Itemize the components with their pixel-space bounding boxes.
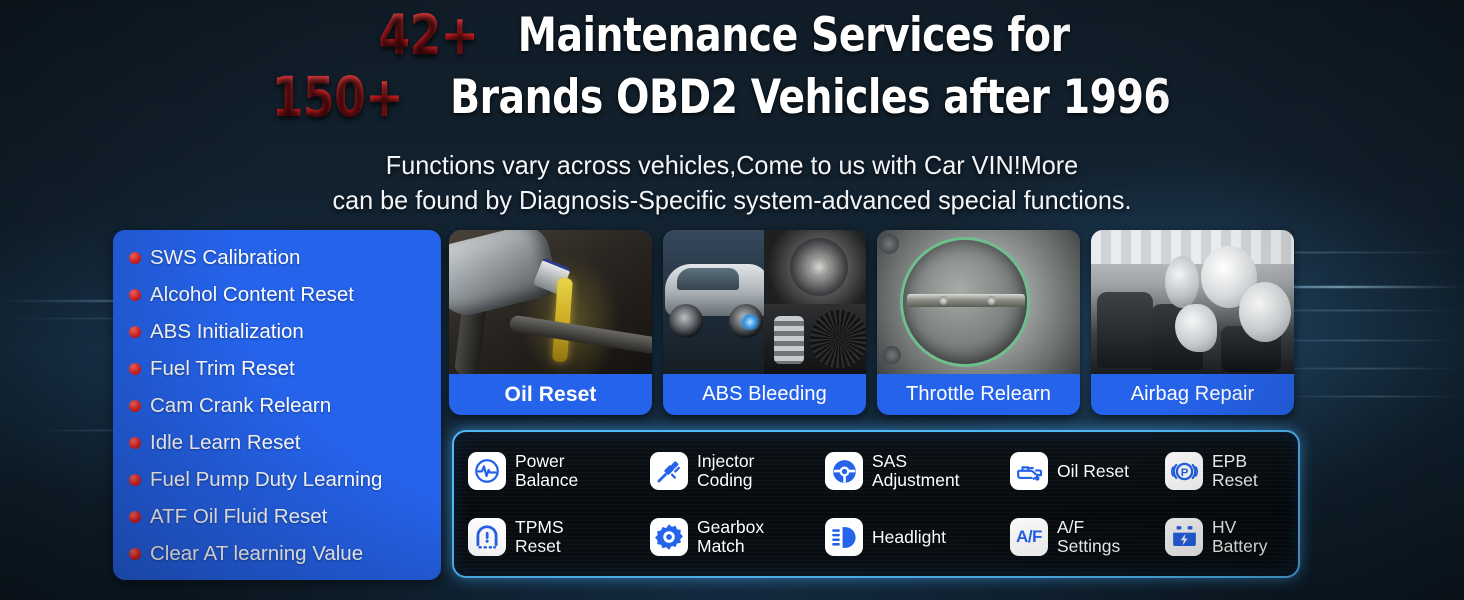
headline-line-2: 150+ Brands OBD2 Vehicles after 1996: [0, 70, 1464, 125]
function-label: TPMS Reset: [515, 518, 564, 555]
photo-card-label: ABS Bleeding: [663, 374, 866, 415]
tpms-icon: [468, 518, 506, 556]
function-item-power-balance[interactable]: Power Balance: [468, 452, 650, 490]
function-label: Injector Coding: [697, 452, 754, 489]
engine-oil-pouring-photo: [449, 230, 652, 374]
bullet-icon: [129, 363, 141, 375]
hv-battery-icon: [1165, 518, 1203, 556]
function-label: EPB Reset: [1212, 452, 1258, 489]
function-label: Gearbox Match: [697, 518, 764, 555]
function-item-oil-reset[interactable]: Oil Reset: [1010, 452, 1165, 490]
list-item: Idle Learn Reset: [113, 424, 441, 461]
photo-card-label: Throttle Relearn: [877, 374, 1080, 415]
injector-icon: [650, 452, 688, 490]
function-label: HV Battery: [1212, 518, 1267, 555]
af-glyph: A/F: [1016, 527, 1042, 547]
bullet-icon: [129, 326, 141, 338]
photo-card-row: Oil Reset ABS Bleeding Throttle Relearn: [449, 230, 1294, 415]
promo-banner: 42+ Maintenance Services for 150+ Brands…: [0, 0, 1464, 600]
headline-text-brands: Brands OBD2 Vehicles after 1996: [450, 74, 1170, 121]
bullet-icon: [129, 252, 141, 264]
photo-card-abs-bleeding: ABS Bleeding: [663, 230, 866, 415]
service-list-label: Cam Crank Relearn: [150, 394, 331, 418]
service-list-label: Idle Learn Reset: [150, 431, 300, 455]
bullet-icon: [129, 511, 141, 523]
headline-count-brands: 150+: [272, 70, 403, 125]
headline: 42+ Maintenance Services for 150+ Brands…: [0, 8, 1464, 125]
service-list-label: SWS Calibration: [150, 246, 300, 270]
car-interior-airbags-photo: [1091, 230, 1294, 374]
subtitle-line-2: can be found by Diagnosis-Specific syste…: [22, 183, 1442, 218]
function-item-af-settings[interactable]: A/F A/F Settings: [1010, 518, 1165, 556]
service-list-label: Clear AT learning Value: [150, 542, 363, 566]
function-icon-panel: Power Balance Injector Coding SAS Adjust…: [452, 430, 1300, 578]
service-list-label: Alcohol Content Reset: [150, 283, 354, 307]
service-list-label: Fuel Pump Duty Learning: [150, 468, 382, 492]
list-item: ATF Oil Fluid Reset: [113, 498, 441, 535]
list-item: Clear AT learning Value: [113, 535, 441, 572]
steering-wheel-icon: [825, 452, 863, 490]
headlight-icon: [825, 518, 863, 556]
af-text-icon: A/F: [1010, 518, 1048, 556]
epb-parking-brake-icon: P: [1165, 452, 1203, 490]
function-item-epb-reset[interactable]: P EPB Reset: [1165, 452, 1316, 490]
list-item: Cam Crank Relearn: [113, 387, 441, 424]
headline-line-1: 42+ Maintenance Services for: [0, 8, 1464, 63]
service-list-panel: SWS Calibration Alcohol Content Reset AB…: [113, 230, 441, 580]
car-abs-brake-pedal-photo: [663, 230, 866, 374]
function-item-sas-adjustment[interactable]: SAS Adjustment: [825, 452, 1010, 490]
photo-card-oil-reset: Oil Reset: [449, 230, 652, 415]
power-balance-icon: [468, 452, 506, 490]
throttle-body-photo: [877, 230, 1080, 374]
photo-card-label: Oil Reset: [449, 374, 652, 415]
function-item-injector-coding[interactable]: Injector Coding: [650, 452, 825, 490]
bullet-icon: [129, 437, 141, 449]
bullet-icon: [129, 474, 141, 486]
function-label: Headlight: [872, 528, 946, 547]
headline-count-services: 42+: [378, 8, 478, 63]
function-item-gearbox-match[interactable]: Gearbox Match: [650, 518, 825, 556]
function-item-hv-battery[interactable]: HV Battery: [1165, 518, 1316, 556]
svg-text:P: P: [1180, 467, 1188, 479]
oil-can-icon: [1010, 452, 1048, 490]
list-item: Fuel Pump Duty Learning: [113, 461, 441, 498]
subtitle-line-1: Functions vary across vehicles,Come to u…: [22, 148, 1442, 183]
subtitle: Functions vary across vehicles,Come to u…: [22, 148, 1442, 218]
photo-card-label: Airbag Repair: [1091, 374, 1294, 415]
function-item-headlight[interactable]: Headlight: [825, 518, 1010, 556]
list-item: Fuel Trim Reset: [113, 350, 441, 387]
service-list-label: ATF Oil Fluid Reset: [150, 505, 327, 529]
function-label: SAS Adjustment: [872, 452, 960, 489]
bullet-icon: [129, 400, 141, 412]
function-label: A/F Settings: [1057, 518, 1120, 555]
headline-text-services: Maintenance Services for: [518, 12, 1070, 59]
photo-card-throttle-relearn: Throttle Relearn: [877, 230, 1080, 415]
list-item: SWS Calibration: [113, 239, 441, 276]
bullet-icon: [129, 289, 141, 301]
bullet-icon: [129, 548, 141, 560]
function-label: Power Balance: [515, 452, 578, 489]
gear-icon: [650, 518, 688, 556]
service-list-label: ABS Initialization: [150, 320, 304, 344]
photo-card-airbag-repair: Airbag Repair: [1091, 230, 1294, 415]
service-list-label: Fuel Trim Reset: [150, 357, 295, 381]
function-item-tpms-reset[interactable]: TPMS Reset: [468, 518, 650, 556]
list-item: ABS Initialization: [113, 313, 441, 350]
list-item: Alcohol Content Reset: [113, 276, 441, 313]
function-label: Oil Reset: [1057, 462, 1129, 481]
